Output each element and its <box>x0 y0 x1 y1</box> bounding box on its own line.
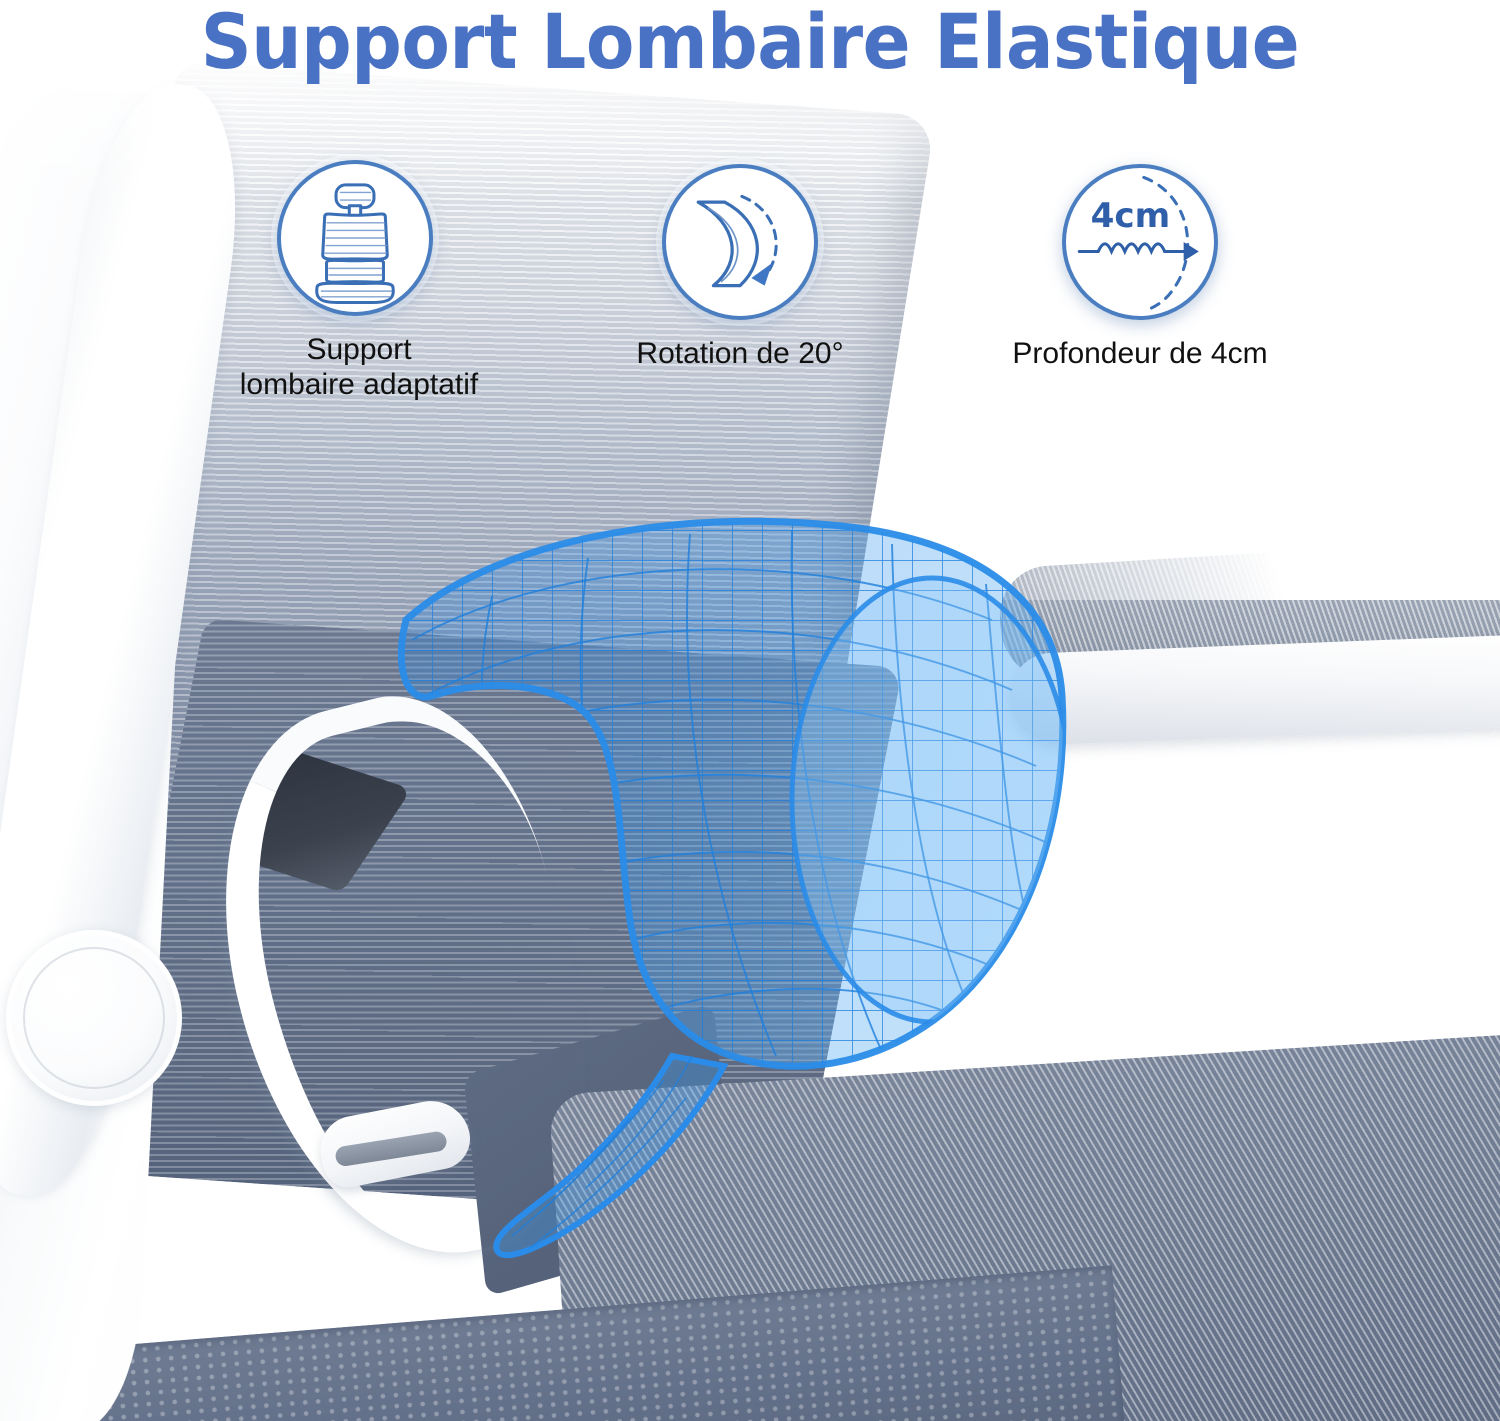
product-feature-image: Support Lombaire Elastique <box>0 0 1500 1421</box>
feature-caption: Profondeur de 4cm <box>960 336 1320 371</box>
page-title: Support Lombaire Elastique <box>53 0 1448 90</box>
rotation-arrow-icon <box>662 164 818 320</box>
feature-depth: 4cm Profondeur de 4cm <box>960 164 1320 371</box>
chair-seat-icon <box>277 160 433 316</box>
feature-badges: Support lombaire adaptatif Rotation de 2… <box>0 160 1500 420</box>
depth-spring-icon: 4cm <box>1062 164 1218 320</box>
armrest-support-arm <box>1008 634 1500 747</box>
feature-lumbar-support: Support lombaire adaptatif <box>185 160 525 403</box>
frame-pivot-cap <box>6 930 182 1106</box>
depth-badge-value: 4cm <box>1091 196 1171 236</box>
feature-caption: Rotation de 20° <box>570 336 910 371</box>
feature-caption: Support lombaire adaptatif <box>189 332 529 403</box>
feature-rotation: Rotation de 20° <box>570 164 910 371</box>
